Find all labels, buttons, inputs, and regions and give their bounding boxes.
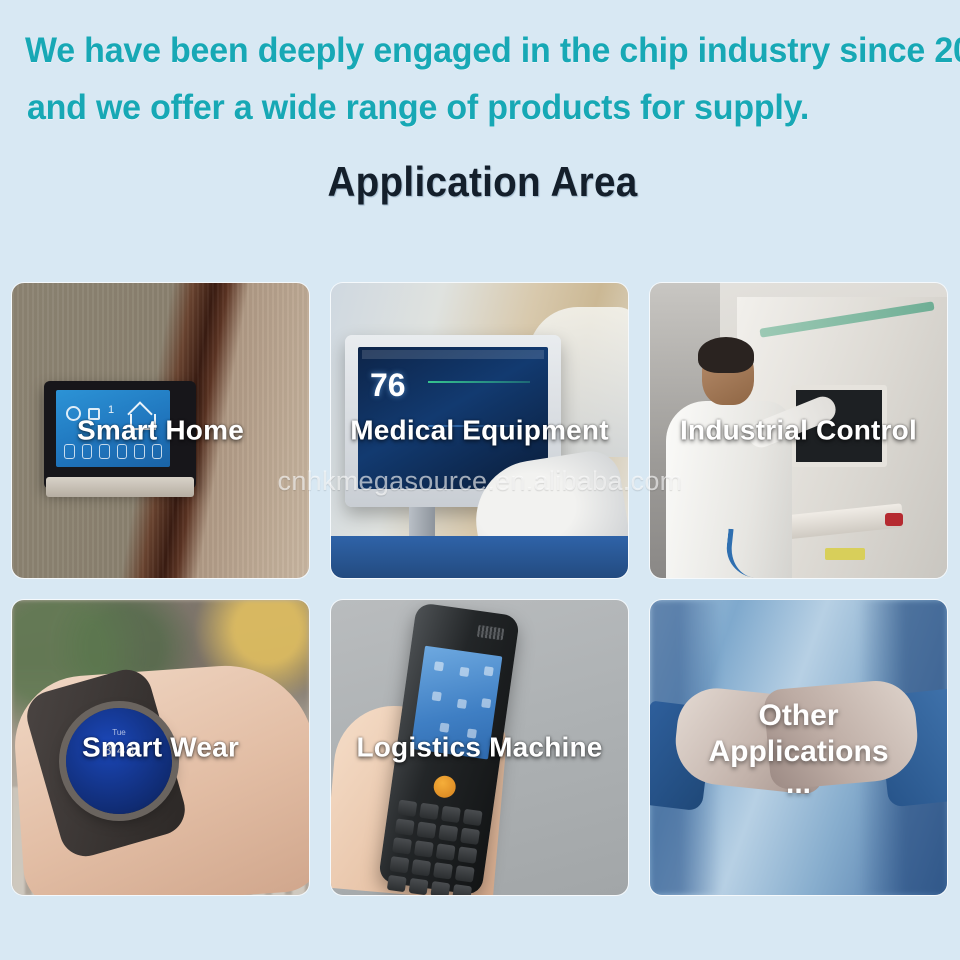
scan-button: [432, 774, 457, 799]
card-label-logistics-machine: Logistics Machine: [331, 731, 628, 763]
card-logistics-machine[interactable]: Logistics Machine: [331, 600, 628, 895]
emergency-stop-button: [885, 513, 903, 526]
other-label-line-1: Other: [650, 698, 947, 734]
card-smart-home[interactable]: 1 Smart Home: [12, 283, 309, 578]
monitor-status-bar: [362, 350, 544, 359]
card-label-smart-home: Smart Home: [12, 414, 309, 446]
card-smart-wear[interactable]: Tue 3:43 Smart Wear: [12, 600, 309, 895]
card-other-applications[interactable]: Other Applications ...: [650, 600, 947, 895]
other-label-line-2: Applications: [650, 734, 947, 770]
card-label-industrial-control: Industrial Control: [650, 414, 947, 446]
card-medical-equipment[interactable]: 76 Medical Equipment: [331, 283, 628, 578]
card-industrial-control[interactable]: Industrial Control: [650, 283, 947, 578]
other-label-line-3: ...: [650, 770, 947, 798]
page-title: Application Area: [62, 158, 904, 206]
tagline-line-1: We have been deeply engaged in the chip …: [25, 22, 913, 79]
monitor-reading: 76: [370, 369, 406, 401]
machine-stripe: [759, 301, 934, 337]
application-area-grid: 1 Smart Home: [12, 283, 948, 895]
card-label-smart-wear: Smart Wear: [12, 731, 309, 763]
speaker-grill: [477, 625, 504, 641]
card-label-other-applications: Other Applications ...: [650, 698, 947, 798]
warning-label: [825, 548, 865, 560]
ecg-waveform: [428, 381, 530, 383]
tagline-line-2: and we offer a wide range of products fo…: [25, 79, 913, 136]
panel-base: [46, 477, 194, 497]
page-header: We have been deeply engaged in the chip …: [0, 0, 960, 206]
scrubs-bottom: [331, 536, 628, 578]
technician-hair: [698, 337, 754, 373]
keypad: [389, 800, 482, 883]
card-label-medical-equipment: Medical Equipment: [331, 414, 628, 446]
